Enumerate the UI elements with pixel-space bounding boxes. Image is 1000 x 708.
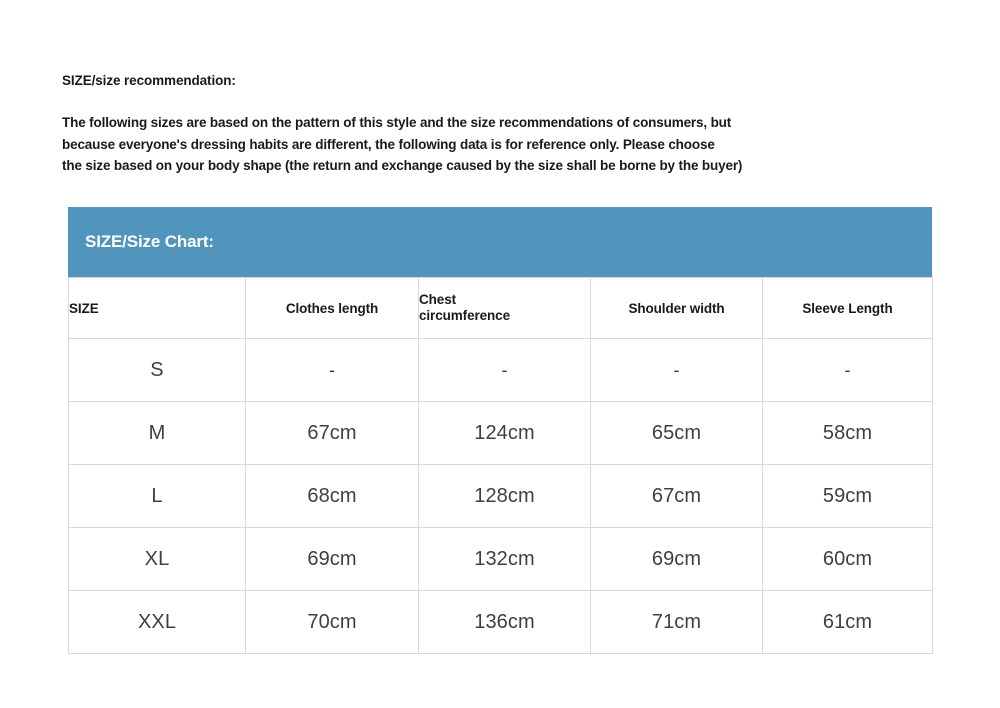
cell-clothes-length: - bbox=[246, 339, 419, 402]
intro-block: SIZE/size recommendation: The following … bbox=[62, 72, 938, 177]
column-header-size: SIZE bbox=[69, 278, 246, 339]
size-chart-table: SIZE Clothes length Chest circumference … bbox=[68, 277, 933, 654]
cell-sleeve-length: 60cm bbox=[763, 528, 933, 591]
page-title: SIZE/size recommendation: bbox=[62, 72, 938, 90]
size-chart-page: SIZE/size recommendation: The following … bbox=[0, 0, 1000, 708]
size-chart-banner-title: SIZE/Size Chart: bbox=[85, 232, 214, 252]
cell-clothes-length: 67cm bbox=[246, 402, 419, 465]
column-header-chest-line-1: Chest bbox=[419, 292, 590, 308]
table-body: S - - - - M 67cm 124cm 65cm 58cm L 68cm … bbox=[69, 339, 933, 654]
cell-chest-circumference: - bbox=[419, 339, 591, 402]
cell-chest-circumference: 136cm bbox=[419, 591, 591, 654]
cell-clothes-length: 70cm bbox=[246, 591, 419, 654]
table-row: XL 69cm 132cm 69cm 60cm bbox=[69, 528, 933, 591]
table-header: SIZE Clothes length Chest circumference … bbox=[69, 278, 933, 339]
size-chart-banner: SIZE/Size Chart: bbox=[68, 207, 932, 277]
disclaimer-line-2: because everyone's dressing habits are d… bbox=[62, 134, 934, 156]
cell-shoulder-width: 71cm bbox=[591, 591, 763, 654]
disclaimer-line-1: The following sizes are based on the pat… bbox=[62, 112, 934, 134]
cell-size: S bbox=[69, 339, 246, 402]
cell-shoulder-width: - bbox=[591, 339, 763, 402]
cell-size: L bbox=[69, 465, 246, 528]
cell-size: XXL bbox=[69, 591, 246, 654]
table-row: S - - - - bbox=[69, 339, 933, 402]
cell-clothes-length: 68cm bbox=[246, 465, 419, 528]
cell-size: XL bbox=[69, 528, 246, 591]
disclaimer-line-3: the size based on your body shape (the r… bbox=[62, 155, 934, 177]
cell-size: M bbox=[69, 402, 246, 465]
table-row: XXL 70cm 136cm 71cm 61cm bbox=[69, 591, 933, 654]
cell-shoulder-width: 69cm bbox=[591, 528, 763, 591]
column-header-chest-line-2: circumference bbox=[419, 308, 590, 324]
column-header-clothes-length: Clothes length bbox=[246, 278, 419, 339]
cell-sleeve-length: 58cm bbox=[763, 402, 933, 465]
table-row: L 68cm 128cm 67cm 59cm bbox=[69, 465, 933, 528]
cell-chest-circumference: 124cm bbox=[419, 402, 591, 465]
cell-shoulder-width: 65cm bbox=[591, 402, 763, 465]
table-row: M 67cm 124cm 65cm 58cm bbox=[69, 402, 933, 465]
table-header-row: SIZE Clothes length Chest circumference … bbox=[69, 278, 933, 339]
column-header-shoulder-width: Shoulder width bbox=[591, 278, 763, 339]
cell-sleeve-length: 61cm bbox=[763, 591, 933, 654]
cell-sleeve-length: 59cm bbox=[763, 465, 933, 528]
column-header-sleeve-length: Sleeve Length bbox=[763, 278, 933, 339]
cell-sleeve-length: - bbox=[763, 339, 933, 402]
column-header-chest-circumference: Chest circumference bbox=[419, 278, 591, 339]
size-chart-table-container: SIZE/Size Chart: SIZE Clothes length Che… bbox=[68, 207, 932, 654]
cell-clothes-length: 69cm bbox=[246, 528, 419, 591]
disclaimer-text: The following sizes are based on the pat… bbox=[62, 112, 934, 177]
cell-chest-circumference: 128cm bbox=[419, 465, 591, 528]
cell-chest-circumference: 132cm bbox=[419, 528, 591, 591]
cell-shoulder-width: 67cm bbox=[591, 465, 763, 528]
